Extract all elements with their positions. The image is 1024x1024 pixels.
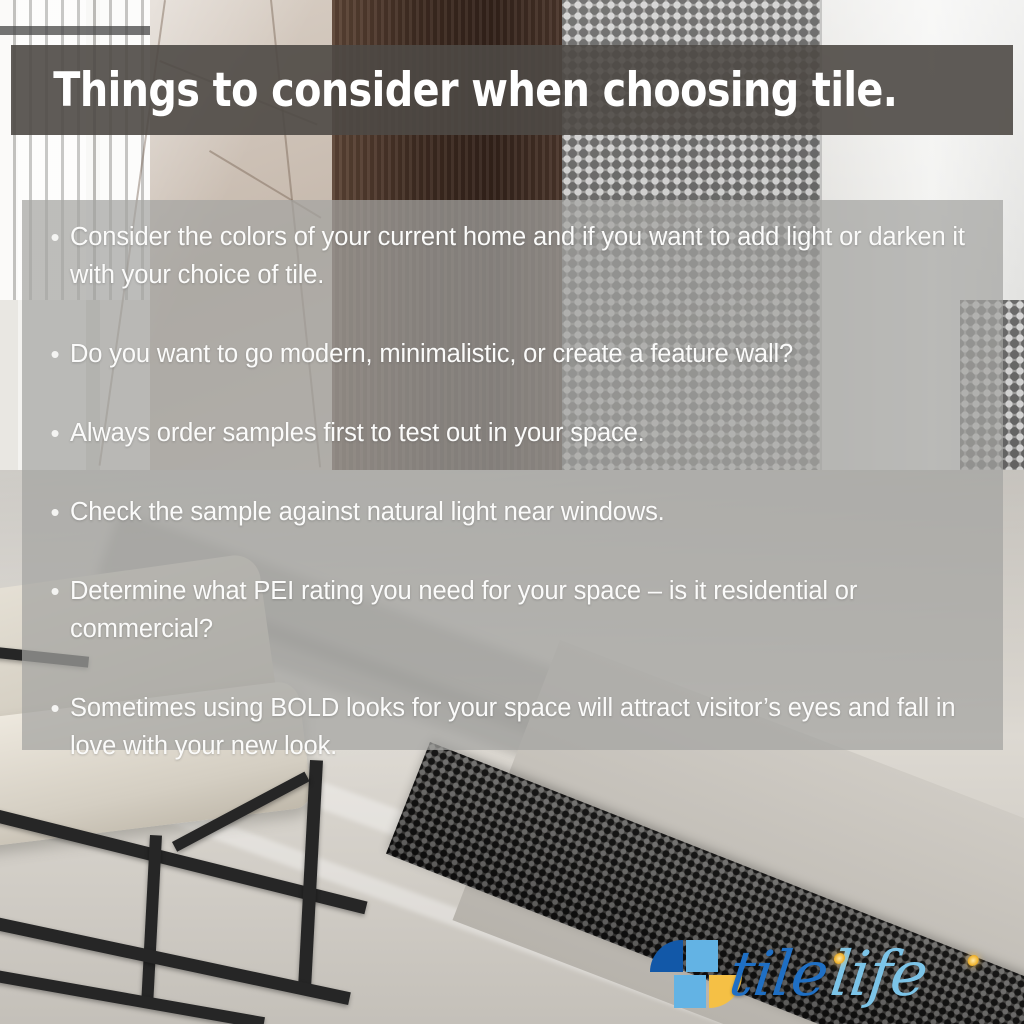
logo-square-light-blue-bottom [674, 975, 706, 1008]
tile-grid-logo-icon [650, 940, 724, 1008]
logo-dot-i-second [967, 955, 979, 966]
logo-square-light-blue-top [686, 940, 718, 972]
list-item: • Consider the colors of your current ho… [46, 218, 973, 294]
list-item: • Sometimes using BOLD looks for your sp… [46, 689, 973, 765]
window-header-beam [0, 26, 155, 35]
list-item-text: Do you want to go modern, minimalistic, … [70, 335, 793, 373]
tips-list: • Consider the colors of your current ho… [46, 218, 973, 765]
bullet-dot-icon: • [46, 414, 64, 452]
list-item: • Do you want to go modern, minimalistic… [46, 335, 973, 373]
tips-panel: • Consider the colors of your current ho… [22, 200, 1003, 750]
list-item-text: Determine what PEI rating you need for y… [70, 572, 973, 648]
list-item: • Check the sample against natural light… [46, 493, 973, 531]
list-item-text: Sometimes using BOLD looks for your spac… [70, 689, 973, 765]
list-item-text: Consider the colors of your current home… [70, 218, 973, 294]
list-item-text: Check the sample against natural light n… [70, 493, 665, 531]
list-item: • Determine what PEI rating you need for… [46, 572, 973, 648]
bullet-dot-icon: • [46, 689, 64, 727]
bullet-dot-icon: • [46, 493, 64, 531]
bullet-dot-icon: • [46, 335, 64, 373]
title-banner: Things to consider when choosing tile. [11, 45, 1013, 135]
bullet-dot-icon: • [46, 218, 64, 256]
page-title: Things to consider when choosing tile. [11, 63, 897, 118]
list-item: • Always order samples first to test out… [46, 414, 973, 452]
bullet-dot-icon: • [46, 572, 64, 610]
list-item-text: Always order samples first to test out i… [70, 414, 645, 452]
logo-quarter-dark-blue [650, 940, 683, 972]
brand-logo[interactable]: tilelife [650, 928, 1020, 1020]
logo-word-tile: tile [726, 937, 832, 1010]
logo-wordmark: tilelife [726, 943, 930, 1005]
logo-word-life: life [827, 937, 931, 1010]
poster-canvas: Things to consider when choosing tile. •… [0, 0, 1024, 1024]
